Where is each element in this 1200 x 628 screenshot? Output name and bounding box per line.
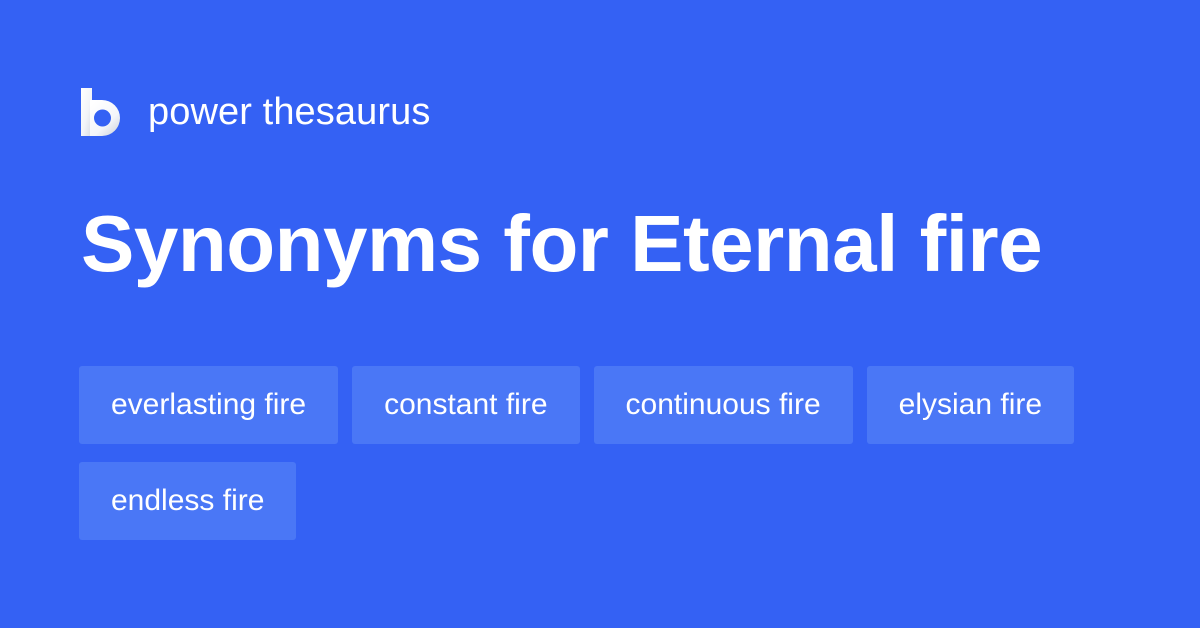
synonym-chip[interactable]: endless fire bbox=[79, 462, 296, 540]
page-title: Synonyms for Eternal fire bbox=[81, 196, 1121, 292]
synonym-chip-list: everlasting fire constant fire continuou… bbox=[79, 366, 1139, 540]
brand-name: power thesaurus bbox=[148, 93, 430, 131]
power-thesaurus-b-logo-icon bbox=[81, 88, 125, 136]
synonym-chip[interactable]: constant fire bbox=[352, 366, 579, 444]
synonym-chip[interactable]: everlasting fire bbox=[79, 366, 338, 444]
share-card: power thesaurus Synonyms for Eternal fir… bbox=[0, 0, 1200, 628]
brand-logo[interactable]: power thesaurus bbox=[81, 83, 430, 141]
synonym-chip[interactable]: elysian fire bbox=[867, 366, 1074, 444]
synonym-chip[interactable]: continuous fire bbox=[594, 366, 853, 444]
